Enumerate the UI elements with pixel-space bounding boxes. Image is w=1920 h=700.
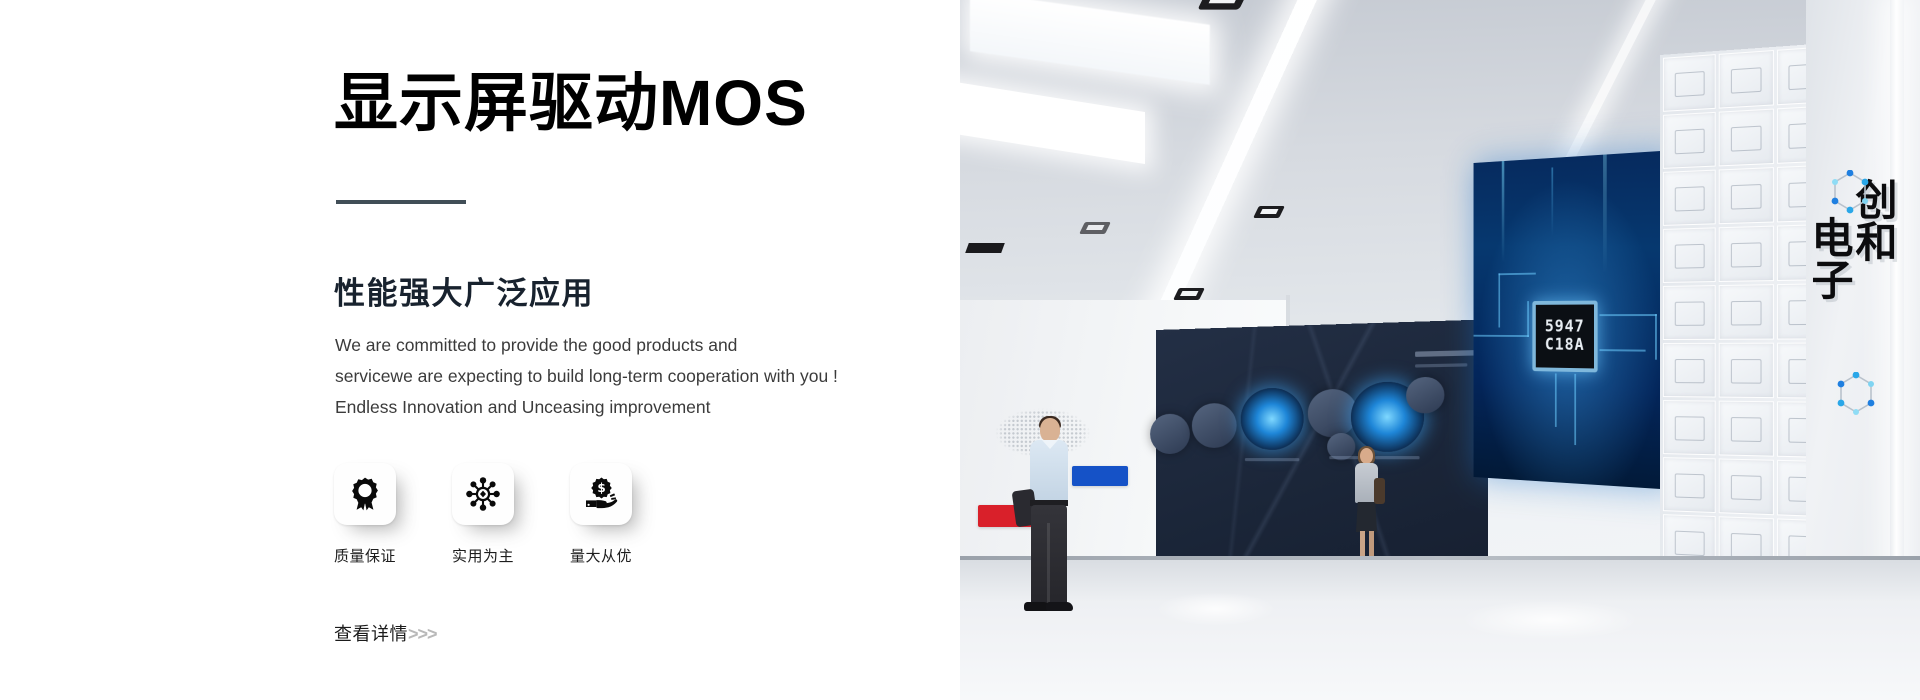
sub-heading: 性能强大广泛应用 — [334, 268, 594, 313]
head — [1360, 448, 1373, 464]
circuit-trace — [1474, 335, 1529, 337]
description-line-3: Endless Innovation and Unceasing improve… — [335, 392, 838, 423]
page-title: 显示屏驱动MOS — [334, 70, 808, 137]
wall-sensor — [965, 243, 1005, 253]
display-tile — [1719, 401, 1774, 457]
display-tile — [1663, 112, 1716, 169]
navy-exhibit-wall — [1156, 319, 1488, 590]
chip-glow-medallion — [1241, 388, 1304, 450]
circuit-trace — [1574, 374, 1576, 445]
award-ribbon-icon — [347, 476, 383, 512]
showroom-photo: 5947 C18A — [960, 0, 1920, 700]
circuit-trace — [1498, 273, 1500, 327]
display-tile — [1719, 109, 1774, 167]
chevron-right-icon: >>> — [408, 624, 437, 644]
handbag — [1374, 478, 1385, 504]
floor-reflection — [1460, 600, 1640, 640]
feature-label: 量大从优 — [570, 545, 688, 566]
display-tile — [1719, 50, 1774, 109]
view-details-label: 查看详情 — [334, 624, 408, 644]
head — [1040, 418, 1060, 442]
display-tile — [1663, 400, 1716, 455]
photo-medallion — [1192, 403, 1237, 448]
feature-item-quality[interactable]: 质量保证 — [334, 463, 452, 566]
feature-label: 质量保证 — [334, 545, 452, 566]
caption-bar — [1415, 350, 1477, 357]
display-tile — [1719, 167, 1774, 224]
display-tile — [1663, 457, 1716, 513]
chip-graphic: 5947 C18A — [1532, 301, 1597, 373]
molecule-hexagon-icon — [1830, 170, 1870, 216]
display-tile — [1719, 226, 1774, 282]
brand-sign-left: 电子 — [1806, 216, 1852, 300]
description-paragraph: We are committed to provide the good pro… — [335, 330, 838, 423]
display-tile — [1663, 227, 1716, 283]
hand-money-icon: $ — [583, 476, 619, 512]
chip-code-line2: C18A — [1545, 336, 1585, 355]
svg-text:$: $ — [597, 481, 605, 495]
feature-item-practical[interactable]: 实用为主 — [452, 463, 570, 566]
photo-medallion — [1150, 414, 1190, 454]
shirt — [1030, 440, 1068, 502]
circuit-trace — [1599, 314, 1656, 316]
network-hub-icon — [465, 476, 501, 512]
trousers — [1031, 505, 1067, 605]
circuit-trace — [1655, 314, 1657, 360]
molecule-hexagon-icon — [1836, 372, 1876, 418]
display-tile — [1719, 458, 1774, 515]
photo-medallion — [1406, 377, 1444, 414]
chip-code-line1: 5947 — [1545, 318, 1585, 336]
feature-badge — [334, 463, 396, 525]
skirt — [1356, 502, 1377, 532]
description-line-2: servicewe are expecting to build long-te… — [335, 361, 838, 392]
person-businessman — [1018, 418, 1078, 618]
left-text-panel: 显示屏驱动MOS 性能强大广泛应用 We are committed to pr… — [0, 0, 960, 700]
floor-reflection — [1156, 592, 1276, 626]
blue-wall-plaque — [1072, 466, 1128, 486]
display-tile — [1663, 54, 1716, 112]
feature-badge: $ — [570, 463, 632, 525]
display-tile — [1719, 343, 1774, 398]
display-tile — [1663, 343, 1716, 398]
circuit-trace — [1527, 301, 1529, 337]
photo-medallion — [1308, 389, 1358, 438]
feature-label: 实用为主 — [452, 545, 570, 566]
display-tile — [1663, 285, 1716, 340]
circuit-trace — [1555, 373, 1557, 427]
caption-bar — [1245, 458, 1299, 461]
shoe — [1046, 602, 1073, 611]
caption-bar — [1415, 363, 1467, 367]
title-divider — [336, 200, 466, 204]
floor — [960, 560, 1920, 700]
led-display-screen: 5947 C18A — [1474, 150, 1676, 490]
hero-banner: 显示屏驱动MOS 性能强大广泛应用 We are committed to pr… — [0, 0, 1920, 700]
display-tile — [1719, 284, 1774, 340]
description-line-1: We are committed to provide the good pro… — [335, 330, 838, 361]
feature-badge — [452, 463, 514, 525]
feature-list: 质量保证 — [334, 463, 688, 566]
feature-item-bulk[interactable]: $ 量大从优 — [570, 463, 688, 566]
display-tile — [1663, 170, 1716, 226]
view-details-link[interactable]: 查看详情>>> — [334, 620, 437, 646]
